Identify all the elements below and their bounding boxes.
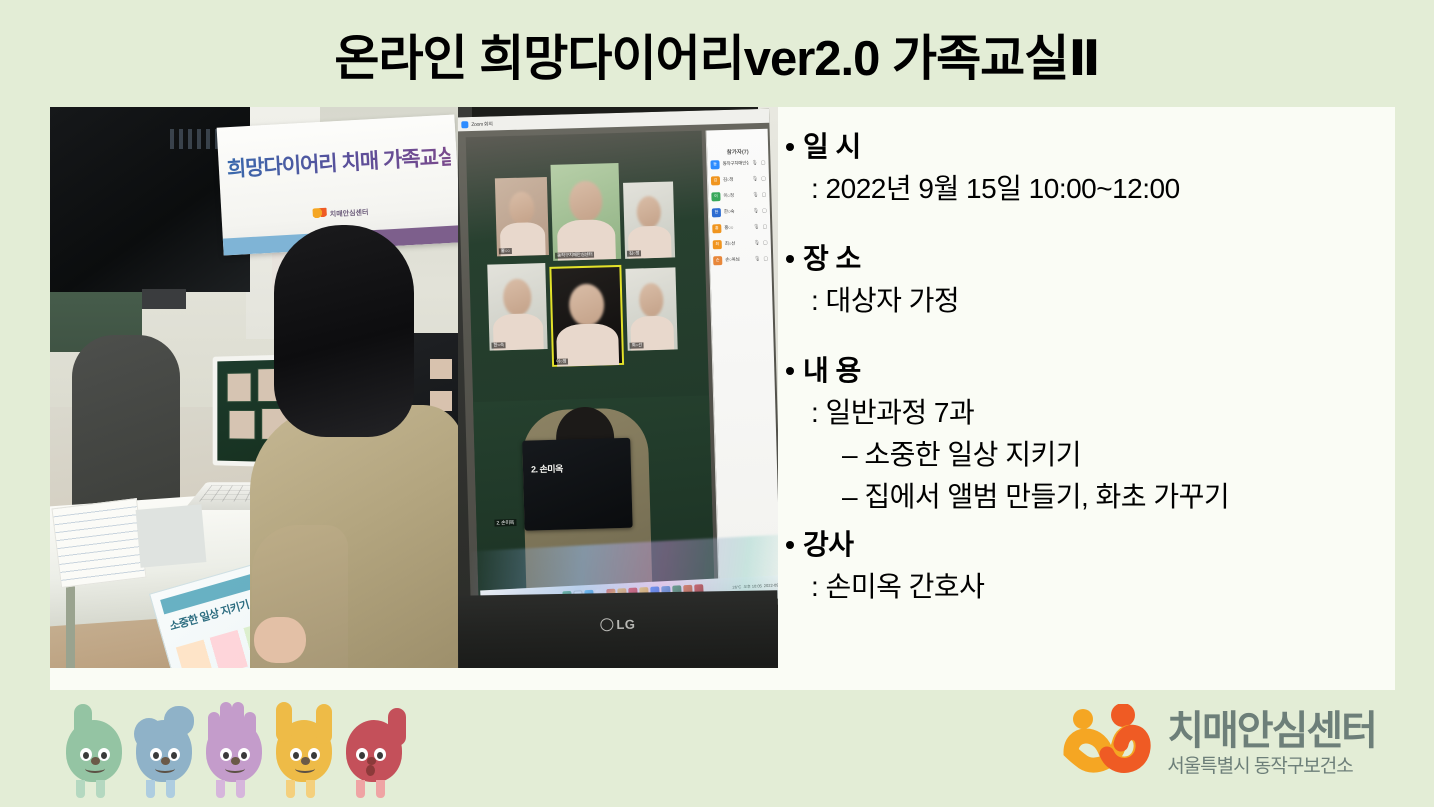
presenter-tablet: 2. 손미옥 (522, 438, 632, 531)
participant-name: 한○숙 (724, 208, 750, 215)
banner-logo-icon (312, 208, 327, 222)
bullet-icon (786, 143, 794, 151)
lg-circle-icon (600, 618, 613, 631)
microphone-icon[interactable]: 🎙 (752, 176, 759, 182)
activity-photo: 희망다이어리 치매 가족교실 치매안심센터 (50, 107, 778, 668)
mascot-face (272, 700, 336, 798)
banner-text: 희망다이어리 치매 가족교실 (226, 141, 451, 183)
participant-row[interactable]: 홍홍○○🎙▢ (709, 219, 770, 237)
detail-label: 내 용 (803, 350, 861, 392)
page-title: 온라인 희망다이어리ver2.0 가족교실Ⅱ (0, 28, 1434, 90)
participant-avatar: 한 (712, 208, 721, 217)
lg-logo-text: LG (616, 617, 635, 632)
zoom-tile-name: 동작구치매안심센터 (555, 252, 595, 259)
zoom-app-icon (461, 121, 468, 128)
camera-icon[interactable]: ▢ (762, 224, 767, 230)
mascot-mouth (366, 765, 375, 776)
detail-block: 장 소: 대상자 가정 (786, 238, 1386, 322)
green-thumbs-up-mascot (62, 700, 126, 798)
microphone-icon[interactable]: 🎙 (753, 208, 760, 214)
camera-icon[interactable]: ▢ (762, 208, 767, 214)
zoom-participant-tile[interactable]: 동작구치매안심센터 (550, 163, 621, 261)
participant-avatar: 이 (711, 192, 720, 201)
detail-value: : 대상자 가정 (786, 280, 1386, 322)
participant-row[interactable]: 손손○옥님🎙▢ (710, 251, 771, 269)
microphone-icon[interactable]: 🎙 (753, 224, 760, 230)
zoom-participant-tile[interactable]: 최○선 (625, 267, 677, 350)
zoom-tile-name: 이○정 (554, 358, 569, 364)
participant-name: 동작구치매안심센터조스사 (722, 160, 748, 167)
microphone-icon[interactable]: 🎙 (752, 192, 759, 198)
desk-leg (66, 577, 75, 668)
paper-stack (136, 504, 207, 568)
mascot-mouth (85, 764, 105, 773)
zoom-tile-name: 김○정 (627, 250, 642, 256)
detail-label-row: 내 용 (786, 350, 1386, 392)
presenter-slide-text: 2. 손미옥 (531, 462, 563, 476)
detail-label-row: 일 시 (786, 126, 1386, 168)
bullet-icon (786, 255, 794, 263)
detail-sub-item: – 소중한 일상 지키기 (786, 434, 1386, 476)
participant-row[interactable]: 이이○정🎙▢ (708, 187, 769, 205)
participants-heading: 참가자(7) (707, 129, 769, 157)
mascot-mouth (225, 764, 245, 773)
detail-label: 강사 (803, 524, 854, 566)
mascot-face (62, 700, 126, 798)
detail-value: : 일반과정 7과 (786, 392, 1386, 434)
camera-icon[interactable]: ▢ (762, 192, 767, 198)
yellow-horns-mascot (272, 700, 336, 798)
brand-logo: 치매안심센터 서울특별시 동작구보건소 (1061, 704, 1376, 782)
zoom-tile-name: 최○선 (629, 342, 644, 348)
participant-avatar: 홍 (712, 224, 721, 233)
zoom-participant-tile[interactable]: 홍○○ (495, 177, 549, 256)
session-details: 일 시: 2022년 9월 15일 10:00~12:00장 소: 대상자 가정… (786, 126, 1386, 671)
mascot-face (342, 700, 406, 798)
block-spacer (786, 328, 1386, 350)
mascot-nose (367, 757, 376, 765)
photo-room-scene: 희망다이어리 치매 가족교실 치매안심센터 (50, 107, 458, 668)
zoom-participant-tile[interactable]: 김○정 (623, 181, 675, 258)
monitor-screen: Zoom 회의 홍○○동작구치매안심센터김○정한○숙이○정최○선 2. 손미옥 … (458, 109, 778, 614)
mascot-face (132, 700, 196, 798)
detail-label-row: 장 소 (786, 238, 1386, 280)
lg-logo: LG (600, 617, 635, 633)
mascot-row (62, 700, 406, 798)
participant-row[interactable]: 김김○정🎙▢ (708, 171, 769, 189)
participant-name: 최○선 (725, 240, 751, 247)
paper-notes (51, 498, 146, 588)
mascot-mouth (155, 764, 175, 773)
block-spacer (786, 216, 1386, 238)
microphone-icon[interactable]: 🎙 (751, 160, 758, 166)
zoom-participant-tile[interactable]: 한○숙 (487, 263, 547, 351)
tv-stand (142, 289, 186, 309)
detail-label: 일 시 (803, 126, 861, 168)
microphone-icon[interactable]: 🎙 (754, 240, 761, 246)
banner-logo-text: 치매안심센터 (330, 207, 369, 219)
participant-name: 홍○○ (724, 224, 750, 231)
participant-avatar: 최 (713, 240, 722, 249)
participant-avatar: 손 (713, 256, 722, 265)
bullet-icon (786, 541, 794, 549)
detail-sub-item: – 집에서 앨범 만들기, 화초 가꾸기 (786, 476, 1386, 518)
zoom-tile-name: 홍○○ (499, 248, 512, 254)
participant-row[interactable]: 한한○숙🎙▢ (709, 203, 770, 221)
photo-monitor-scene: Zoom 회의 홍○○동작구치매안심센터김○정한○숙이○정최○선 2. 손미옥 … (458, 107, 778, 668)
zoom-titlebar: Zoom 회의 (458, 109, 769, 132)
zoom-window-title: Zoom 회의 (471, 120, 492, 128)
participant-avatar: 동 (710, 160, 719, 169)
infinity-people-icon (1061, 704, 1153, 782)
brand-name: 치매안심센터 (1167, 710, 1376, 752)
presenter-caption: 2. 손미옥 (494, 519, 516, 527)
zoom-participant-tile[interactable]: 이○정 (549, 265, 624, 367)
participant-name: 김○정 (723, 176, 749, 183)
participant-person (248, 225, 458, 668)
slide-footer: 치매안심센터 서울특별시 동작구보건소 (0, 690, 1434, 807)
brand-mark-icon (1061, 704, 1153, 782)
camera-icon[interactable]: ▢ (761, 160, 766, 166)
detail-label-row: 강사 (786, 524, 1386, 566)
zoom-tile-name: 한○숙 (491, 342, 506, 348)
participant-row[interactable]: 동동작구치매안심센터조스사🎙▢ (707, 155, 768, 173)
detail-block: 일 시: 2022년 9월 15일 10:00~12:00 (786, 126, 1386, 210)
participant-avatar: 김 (711, 176, 720, 185)
detail-value: : 손미옥 간호사 (786, 566, 1386, 608)
participant-name: 이○정 (723, 192, 749, 199)
bullet-icon (786, 367, 794, 375)
monitor-bezel: LG (458, 590, 778, 668)
brand-subtitle: 서울특별시 동작구보건소 (1167, 757, 1376, 777)
detail-block: 강사: 손미옥 간호사 (786, 524, 1386, 608)
detail-value: : 2022년 9월 15일 10:00~12:00 (786, 168, 1386, 210)
camera-icon[interactable]: ▢ (763, 256, 768, 262)
detail-label: 장 소 (803, 238, 861, 280)
microphone-icon[interactable]: 🎙 (754, 256, 761, 262)
mascot-mouth (295, 764, 315, 773)
detail-block: 내 용: 일반과정 7과– 소중한 일상 지키기– 집에서 앨범 만들기, 화초… (786, 350, 1386, 518)
zoom-participants-panel[interactable]: 참가자(7) 동동작구치매안심센터조스사🎙▢김김○정🎙▢이이○정🎙▢한한○숙🎙▢… (706, 129, 778, 601)
banner-logo: 치매안심센터 (312, 205, 368, 221)
red-fist-mascot (342, 700, 406, 798)
blue-ok-sign-mascot (132, 700, 196, 798)
camera-icon[interactable]: ▢ (763, 240, 768, 246)
office-chair (72, 335, 180, 525)
purple-open-palm-mascot (202, 700, 266, 798)
participant-name: 손○옥님 (725, 256, 751, 263)
participant-row[interactable]: 최최○선🎙▢ (710, 235, 771, 253)
mascot-face (202, 700, 266, 798)
camera-icon[interactable]: ▢ (761, 176, 766, 182)
